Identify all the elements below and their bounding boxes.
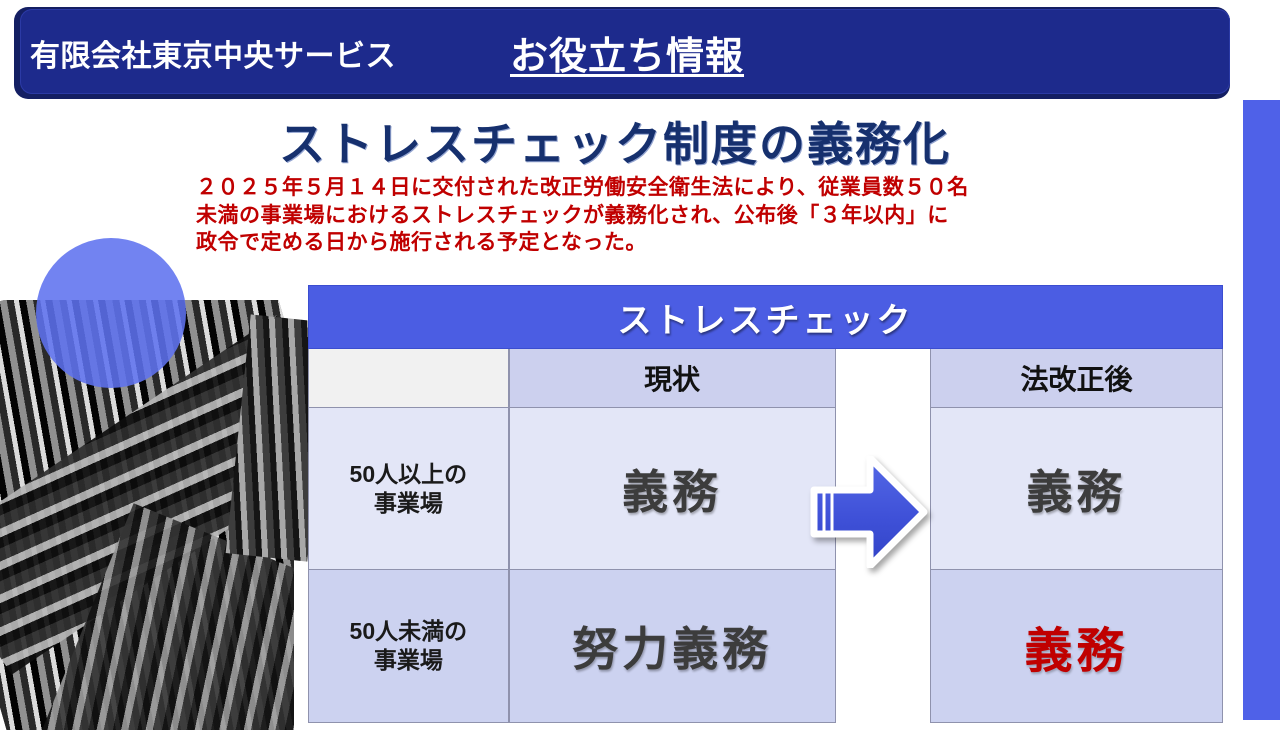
- table-gap-header: [836, 349, 930, 408]
- row-1-current: 義務: [509, 408, 836, 570]
- table-header-blank: [308, 349, 509, 408]
- table-header-current: 現状: [509, 349, 836, 408]
- decorative-circle: [36, 238, 186, 388]
- row-2-current: 努力義務: [509, 570, 836, 723]
- row-2-after-value: 義務: [1024, 611, 1128, 681]
- row-1-label: 50人以上の 事業場: [308, 408, 509, 570]
- row-1-after: 義務: [930, 408, 1223, 570]
- table-gap-row-2: [836, 570, 930, 723]
- row-2-label-line-1: 50人未満の: [350, 617, 468, 646]
- slide-root: { "header": { "company": "有限会社東京中央サービス",…: [0, 0, 1280, 720]
- table-row: 50人未満の 事業場 努力義務 義務: [308, 570, 1223, 723]
- lead-paragraph: ２０２５年５月１４日に交付された改正労働安全衛生法により、従業員数５０名 未満の…: [196, 174, 1218, 257]
- table-header-row: 現状 法改正後: [308, 349, 1223, 408]
- right-arrow-icon: [808, 456, 928, 568]
- page-title: ストレスチェック制度の義務化: [0, 108, 1230, 174]
- lead-line-1: ２０２５年５月１４日に交付された改正労働安全衛生法により、従業員数５０名: [196, 174, 1218, 202]
- table-row: 50人以上の 事業場 義務 義務: [308, 408, 1223, 570]
- lead-line-2: 未満の事業場におけるストレスチェックが義務化され、公布後「３年以内」に: [196, 202, 1218, 230]
- company-name: 有限会社東京中央サービス: [30, 31, 396, 75]
- row-2-current-value: 努力義務: [572, 613, 772, 679]
- row-2-label: 50人未満の 事業場: [308, 570, 509, 723]
- comparison-table: ストレスチェック 現状 法改正後 50人以上の 事業場 義務 義務 50人未満の…: [308, 285, 1223, 723]
- row-1-label-line-1: 50人以上の: [350, 460, 468, 489]
- table-caption: ストレスチェック: [308, 285, 1223, 349]
- header-banner: 有限会社東京中央サービス お役立ち情報: [20, 9, 1230, 94]
- section-title: お役立ち情報: [510, 25, 744, 80]
- lead-line-3: 政令で定める日から施行される予定となった。: [196, 229, 1218, 257]
- row-2-label-line-2: 事業場: [350, 646, 468, 675]
- row-1-after-value: 義務: [1026, 456, 1126, 522]
- row-1-current-value: 義務: [622, 456, 722, 522]
- row-1-label-line-2: 事業場: [350, 489, 468, 518]
- right-accent-bar: [1243, 100, 1280, 720]
- table-header-after: 法改正後: [930, 349, 1223, 408]
- row-2-after: 義務: [930, 570, 1223, 723]
